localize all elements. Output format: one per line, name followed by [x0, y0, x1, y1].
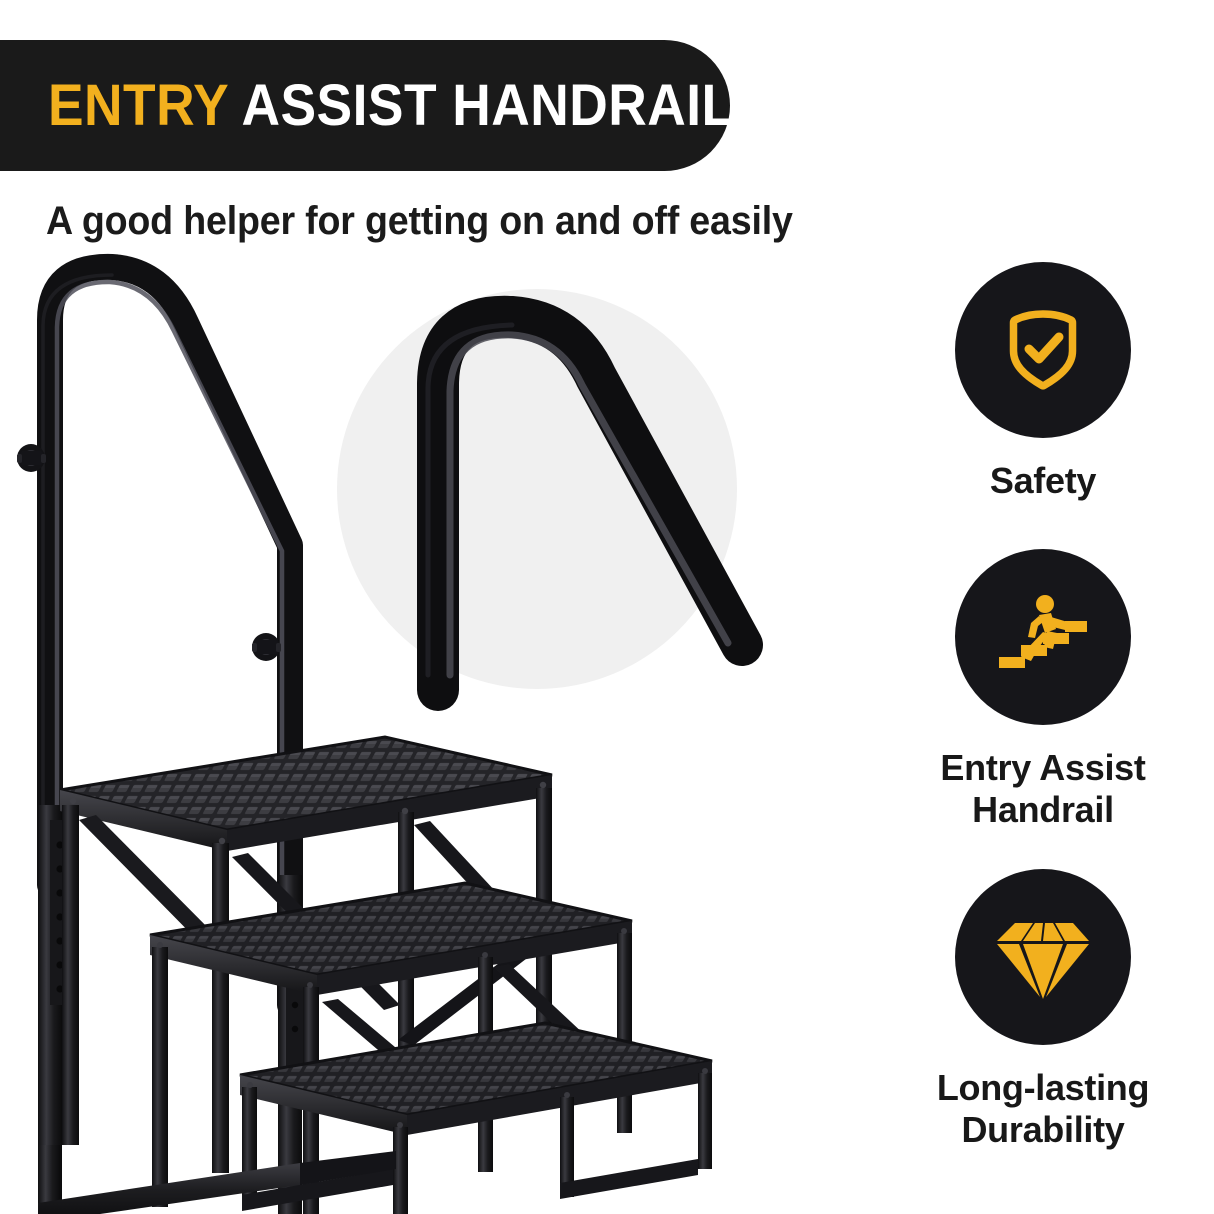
diamond-gem-icon [993, 911, 1093, 1003]
feature-label-durability: Long-lasting Durability [872, 1067, 1214, 1152]
frame-leg [617, 933, 632, 1133]
handrail-closeup-callout [337, 289, 742, 690]
feature-label-safety: Safety [872, 460, 1214, 502]
feature-label-line: Safety [990, 460, 1096, 501]
title-accent-word: ENTRY [48, 73, 228, 138]
feature-label-line: Long-lasting [872, 1067, 1214, 1109]
shield-check-icon [997, 304, 1089, 396]
adjustment-knob-lower [252, 633, 281, 661]
feature-list: Safety [872, 262, 1214, 1192]
feature-label-line: Entry Assist [872, 747, 1214, 789]
feature-item-durability: Long-lasting Durability [872, 869, 1214, 1152]
frame-leg [152, 947, 168, 1207]
feature-icon-circle [955, 262, 1131, 438]
frame-leg [212, 843, 229, 1173]
feature-label-entry-assist-handrail: Entry Assist Handrail [872, 747, 1214, 832]
product-image [0, 245, 870, 1214]
feature-label-line: Handrail [872, 789, 1214, 831]
product-illustration [0, 245, 870, 1214]
person-climbing-stairs-icon [995, 593, 1091, 681]
subtitle-text: A good helper for getting on and off eas… [46, 199, 793, 244]
frame-leg [62, 805, 79, 1145]
feature-label-line: Durability [872, 1109, 1214, 1151]
feature-item-entry-assist-handrail: Entry Assist Handrail [872, 549, 1214, 832]
feature-icon-circle [955, 549, 1131, 725]
frame-leg [393, 1127, 408, 1214]
feature-item-safety: Safety [872, 262, 1214, 502]
title-main-words: ASSIST HANDRAIL [242, 73, 735, 138]
feature-icon-circle [955, 869, 1131, 1045]
page-title: ENTRY ASSIST HANDRAIL [48, 77, 735, 135]
frame-leg [698, 1073, 712, 1169]
header-banner: ENTRY ASSIST HANDRAIL [0, 40, 730, 171]
